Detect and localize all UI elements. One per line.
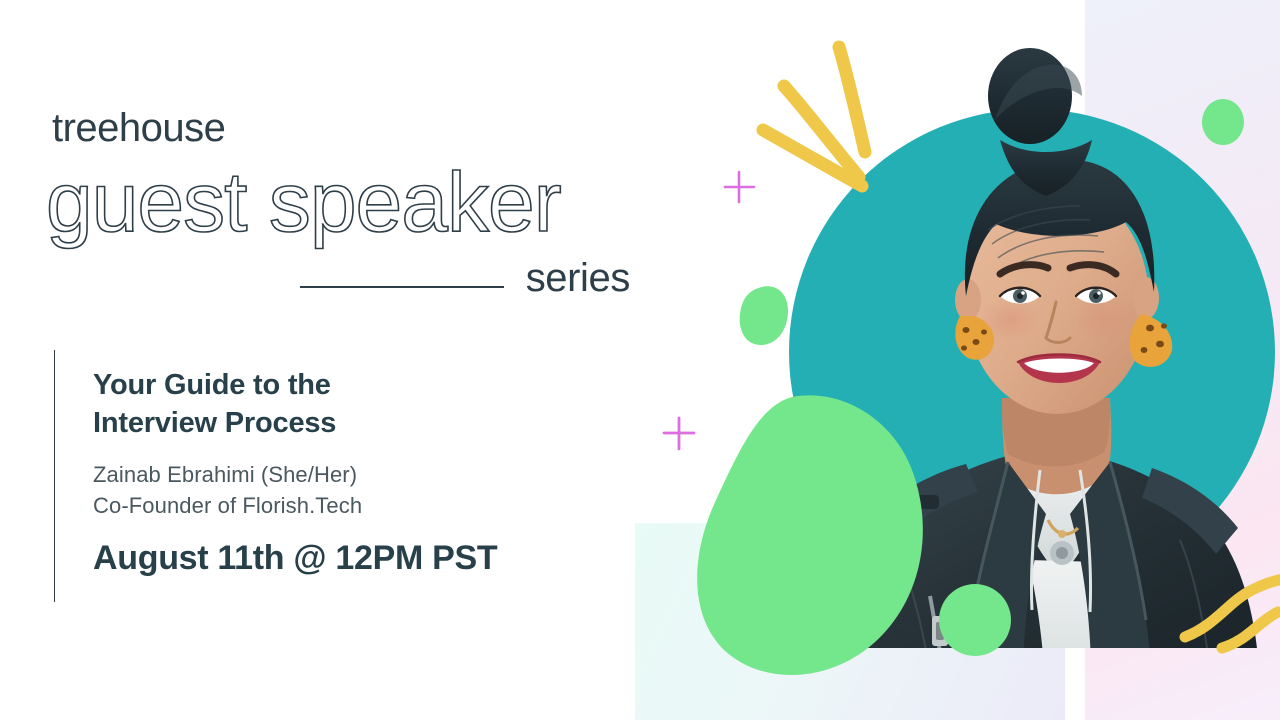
speaker-role: Co-Founder of Florish.Tech xyxy=(93,490,654,521)
green-blob-left xyxy=(740,286,788,345)
speaker-name: Zainab Ebrahimi (She/Her) xyxy=(93,459,654,490)
talk-title-line-1: Your Guide to the xyxy=(93,366,654,404)
green-dot-bottom xyxy=(939,584,1011,656)
plus-mark-middle xyxy=(664,418,694,449)
series-label: series xyxy=(526,258,630,298)
talk-title-line-2: Interview Process xyxy=(93,404,654,442)
slide-canvas: treehouse guest speaker series Your Guid… xyxy=(0,0,1280,720)
plus-mark-top xyxy=(725,172,754,202)
talk-title: Your Guide to the Interview Process xyxy=(93,366,654,443)
green-dot-right xyxy=(1202,99,1244,145)
treehouse-wordmark: treehouse xyxy=(52,108,225,148)
series-divider-rule xyxy=(300,286,504,288)
headline-column: treehouse guest speaker series Your Guid… xyxy=(0,0,660,720)
event-date-time: August 11th @ 12PM PST xyxy=(93,540,654,577)
series-row: series xyxy=(300,252,630,304)
yellow-ray-strokes xyxy=(763,47,865,186)
event-details-block: Your Guide to the Interview Process Zain… xyxy=(54,350,654,602)
guest-speaker-headline: guest speaker xyxy=(46,160,561,244)
